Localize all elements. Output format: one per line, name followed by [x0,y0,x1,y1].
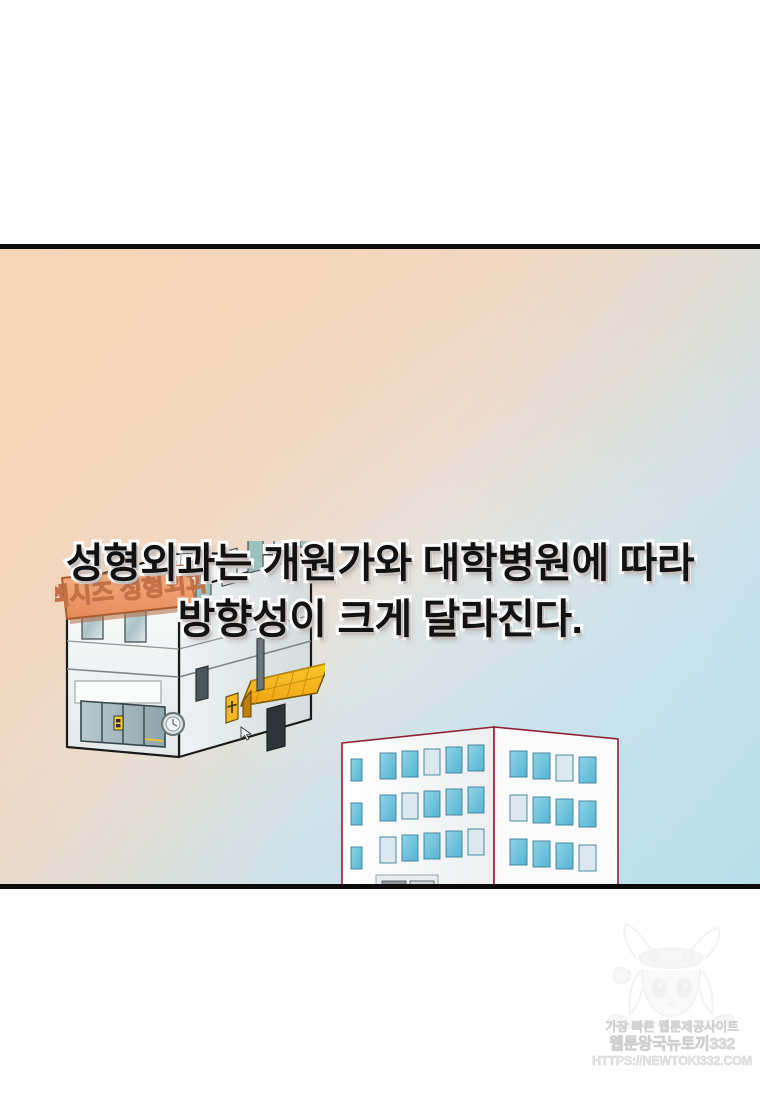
hospital-tower-right-wing [494,727,618,889]
watermark-text-block: 가장 빠른 웹툰제공사이트 웹툰왕국뉴토끼332 HTTPS://NEWTOKI… [588,1020,756,1069]
gutter-top [0,0,760,244]
clinic-wall-clock [162,713,184,735]
clinic-side-window [196,666,208,701]
watermark-line-2: 웹툰왕국뉴토끼332 [588,1035,756,1054]
hospital-building-illustration [318,725,760,889]
watermark-line-1: 가장 빠른 웹툰제공사이트 [588,1020,756,1035]
clinic-signboard-blank [75,681,161,703]
screenshot-root: 액시즈 성형외과 [0,0,760,1100]
clinic-building-illustration: 액시즈 성형외과 [55,541,325,766]
comic-panel: 액시즈 성형외과 [0,244,760,889]
hospital-tower [342,727,494,889]
mascot-icon [596,920,746,1035]
door-poster [114,716,123,730]
watermark-line-3: HTTPS://NEWTOKI332.COM [588,1054,756,1069]
clinic-cross-sign [226,693,238,723]
clinic-entrance-doors [81,701,165,747]
site-watermark: 가장 빠른 웹툰제공사이트 웹툰왕국뉴토끼332 HTTPS://NEWTOKI… [588,920,756,1085]
